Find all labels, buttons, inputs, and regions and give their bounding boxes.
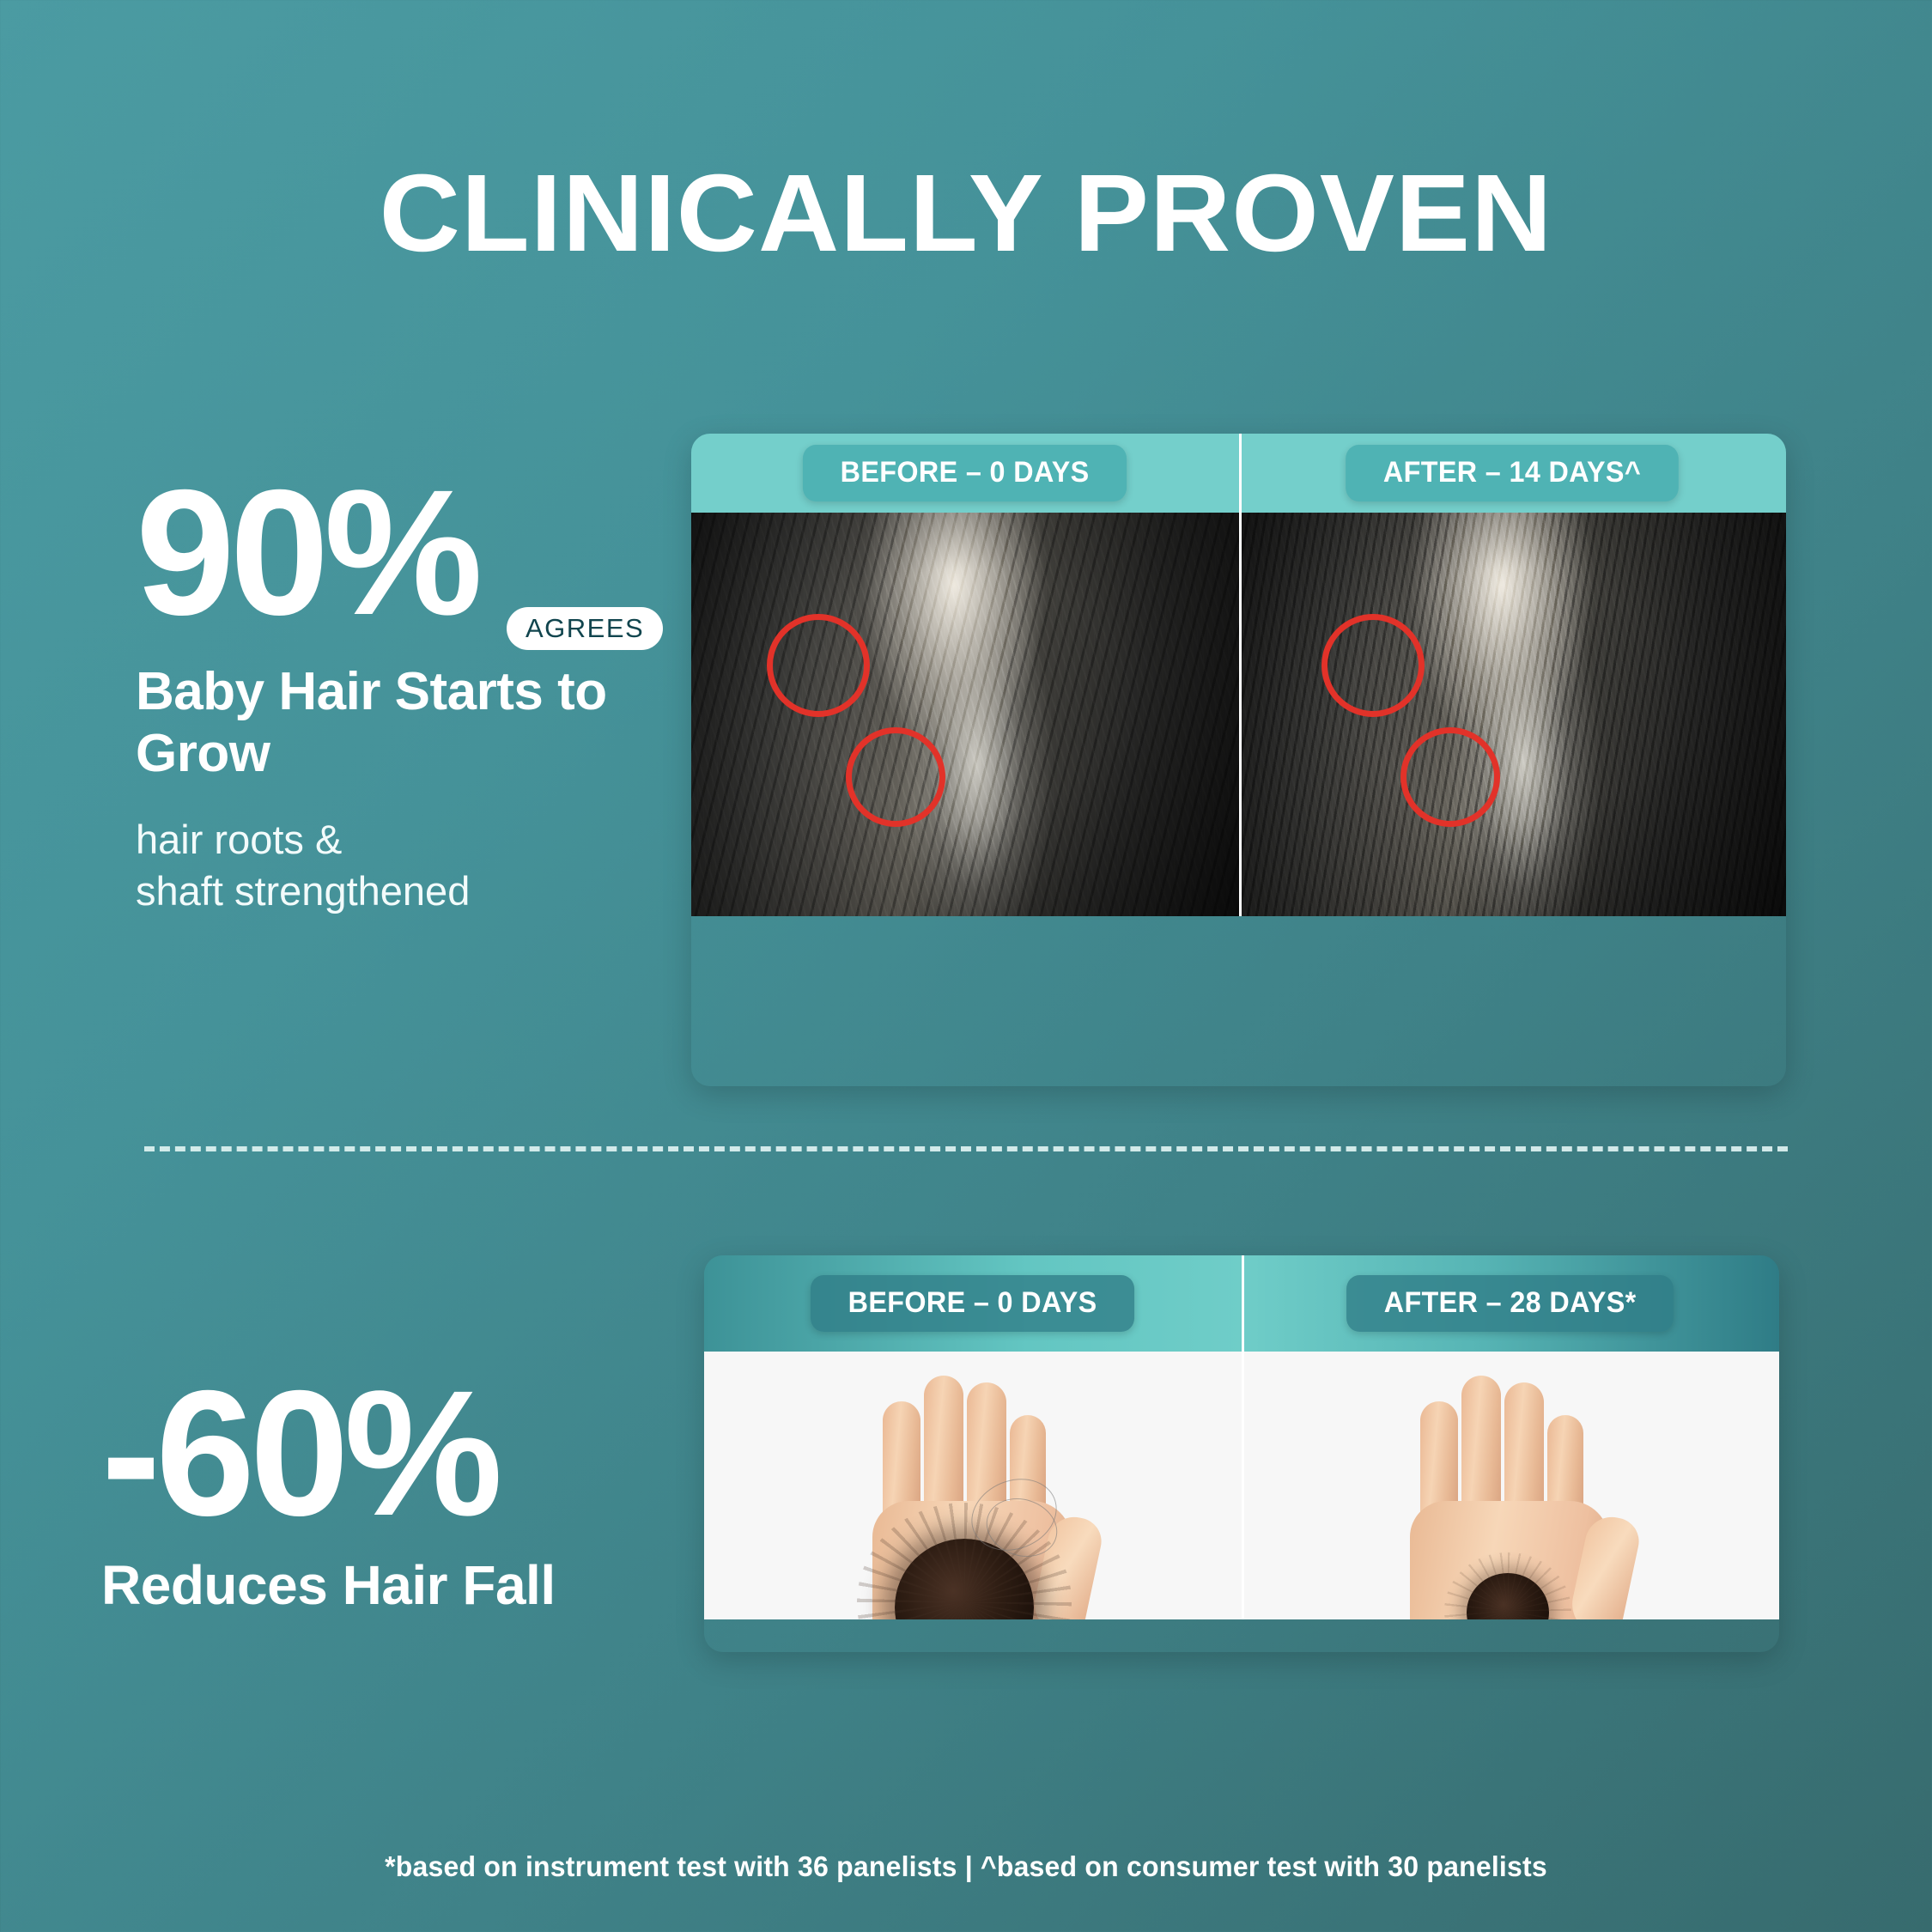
stat-subtext-90: hair roots & shaft strengthened — [136, 814, 668, 917]
agrees-badge: AGREES — [507, 607, 663, 650]
palm-photo-after — [1242, 1352, 1779, 1619]
highlight-circle-before-1 — [767, 614, 870, 717]
scalp-vignette-after — [1239, 513, 1787, 916]
scalp-micrograph-after — [1239, 513, 1787, 916]
palm-after-label: AFTER – 28 DAYS* — [1346, 1275, 1674, 1332]
scalp-vignette-before — [691, 513, 1239, 916]
stat-value-60: -60% — [101, 1374, 685, 1534]
palm-card-body — [704, 1352, 1779, 1619]
highlight-circle-before-2 — [846, 727, 945, 827]
palm-after-image — [1242, 1352, 1779, 1619]
stat-block-60-percent: -60% Reduces Hair Fall — [101, 1374, 685, 1617]
palm-card-header: BEFORE – 0 DAYS AFTER – 28 DAYS* — [704, 1255, 1779, 1352]
scalp-micrograph-before — [691, 513, 1239, 916]
hand-before — [857, 1370, 1089, 1619]
scalp-after-label: AFTER – 14 DAYS^ — [1346, 445, 1679, 501]
highlight-circle-after-2 — [1400, 727, 1500, 827]
palm-before-label: BEFORE – 0 DAYS — [811, 1275, 1134, 1332]
highlight-circle-after-1 — [1321, 614, 1425, 717]
scalp-after-image — [1239, 513, 1787, 916]
stat-headline-90: Baby Hair Starts to Grow — [136, 661, 617, 785]
stat-subtext-90-line1: hair roots & — [136, 814, 668, 866]
scalp-card-header: BEFORE – 0 DAYS AFTER – 14 DAYS^ — [691, 434, 1786, 513]
hand-after — [1394, 1370, 1626, 1619]
scalp-card-body — [691, 513, 1786, 916]
comparison-card-scalp: BEFORE – 0 DAYS AFTER – 14 DAYS^ — [691, 434, 1786, 1086]
stat-block-90-percent: 90% AGREES Baby Hair Starts to Grow hair… — [136, 477, 668, 917]
footnote-text: *based on instrument test with 36 paneli… — [29, 1850, 1904, 1883]
comparison-card-palm: BEFORE – 0 DAYS AFTER – 28 DAYS* — [704, 1255, 1779, 1652]
scalp-before-label: BEFORE – 0 DAYS — [803, 445, 1127, 501]
palm-after-header-half: AFTER – 28 DAYS* — [1242, 1255, 1779, 1352]
palm-photo-before — [704, 1352, 1242, 1619]
hair-clump-after — [1467, 1573, 1549, 1619]
stat-headline-60: Reduces Hair Fall — [101, 1553, 685, 1617]
section-divider — [144, 1146, 1788, 1151]
scalp-after-header-half: AFTER – 14 DAYS^ — [1239, 434, 1787, 513]
stat-subtext-90-line2: shaft strengthened — [136, 866, 668, 917]
stat-value-90: 90% — [136, 477, 477, 630]
palm-before-image — [704, 1352, 1242, 1619]
scalp-before-image — [691, 513, 1239, 916]
page-title: CLINICALLY PROVEN — [0, 150, 1932, 276]
scalp-before-header-half: BEFORE – 0 DAYS — [691, 434, 1239, 513]
palm-before-header-half: BEFORE – 0 DAYS — [704, 1255, 1242, 1352]
